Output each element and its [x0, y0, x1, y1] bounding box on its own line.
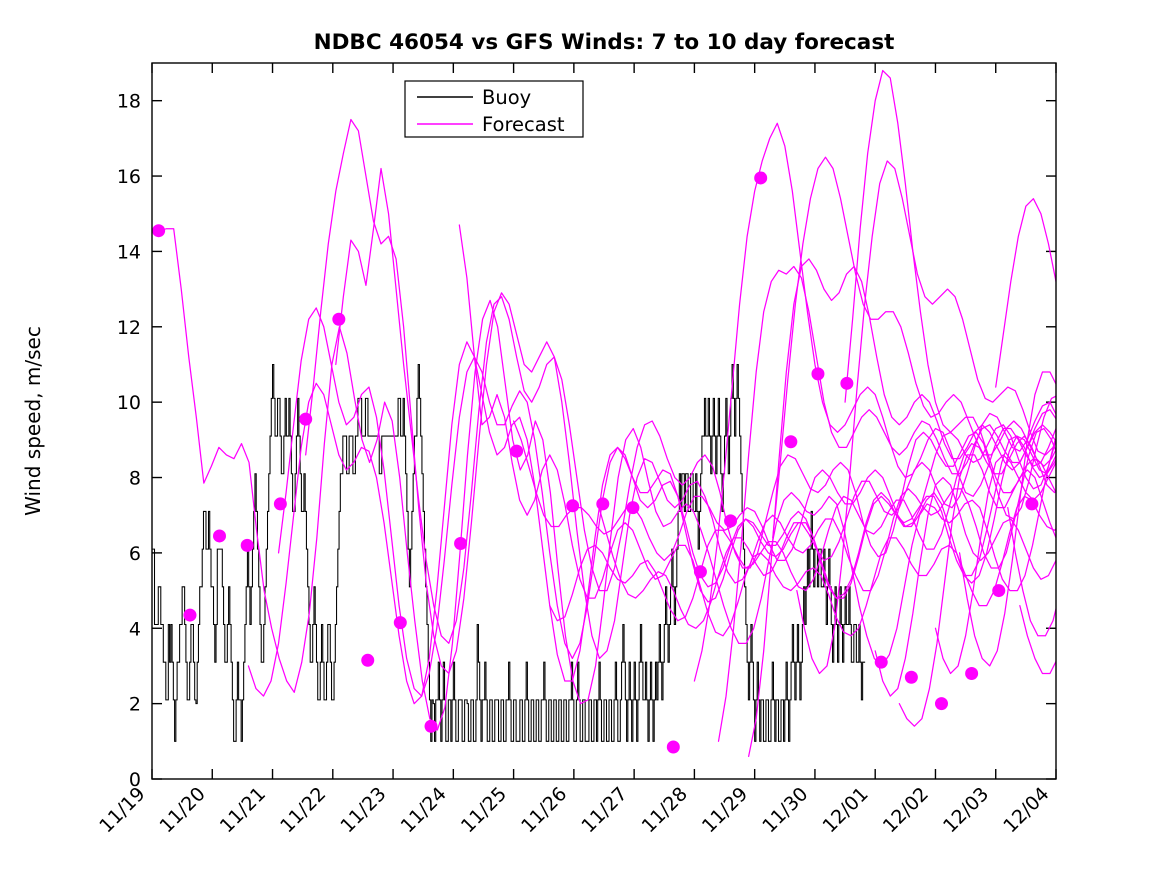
forecast-marker-dot [626, 501, 639, 514]
forecast-marker-dot [694, 565, 707, 578]
forecast-marker-dot [935, 697, 948, 710]
y-tick-label: 12 [117, 317, 141, 339]
y-tick-label: 2 [129, 694, 141, 716]
forecast-marker-dot [840, 377, 853, 390]
y-tick-label: 6 [129, 543, 141, 565]
y-tick-label: 18 [117, 91, 141, 113]
forecast-marker-dot [183, 609, 196, 622]
y-tick-label: 10 [117, 392, 141, 414]
chart-svg: NDBC 46054 vs GFS Winds: 7 to 10 day for… [0, 0, 1167, 875]
forecast-marker-dot [1025, 497, 1038, 510]
forecast-marker-dot [332, 313, 345, 326]
forecast-marker-dot [241, 539, 254, 552]
forecast-marker-dot [213, 529, 226, 542]
y-tick-label: 4 [129, 618, 141, 640]
forecast-marker-dot [905, 671, 918, 684]
forecast-marker-dot [425, 720, 438, 733]
forecast-marker-dot [454, 537, 467, 550]
forecast-marker-dot [361, 654, 374, 667]
forecast-marker-dot [566, 499, 579, 512]
legend-label-forecast: Forecast [482, 113, 565, 136]
forecast-marker-dot [299, 413, 312, 426]
forecast-marker-dot [394, 616, 407, 629]
forecast-marker-dot [875, 656, 888, 669]
y-tick-label: 14 [117, 241, 141, 263]
forecast-marker-dot [784, 435, 797, 448]
y-tick-label: 8 [129, 468, 141, 490]
chart-legend[interactable]: Buoy Forecast [405, 81, 583, 137]
y-tick-label: 16 [117, 166, 141, 188]
y-axis-label: Wind speed, m/sec [21, 326, 45, 516]
legend-label-buoy: Buoy [482, 86, 531, 109]
forecast-marker-dot [724, 514, 737, 527]
forecast-marker-dot [667, 740, 680, 753]
forecast-marker-dot [596, 497, 609, 510]
forecast-marker-dot [152, 224, 165, 237]
forecast-marker-dot [965, 667, 978, 680]
chart-title: NDBC 46054 vs GFS Winds: 7 to 10 day for… [314, 30, 895, 55]
forecast-marker-dot [510, 445, 523, 458]
forecast-marker-dot [754, 171, 767, 184]
figure-canvas: NDBC 46054 vs GFS Winds: 7 to 10 day for… [0, 0, 1167, 875]
forecast-marker-dot [811, 367, 824, 380]
forecast-marker-dot [274, 497, 287, 510]
forecast-marker-dot [992, 584, 1005, 597]
